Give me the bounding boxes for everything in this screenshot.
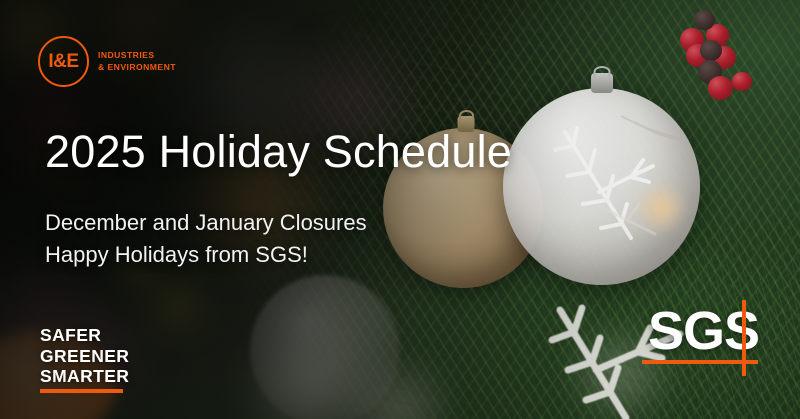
sgs-logo-horizontal-bar	[642, 360, 758, 364]
sgs-logo: SGS	[648, 308, 760, 374]
banner-content: I&E INDUSTRIES & ENVIRONMENT 2025 Holida…	[0, 0, 800, 419]
subtitle-line-2: Happy Holidays from SGS!	[45, 239, 367, 271]
tagline-line-2: GREENER	[40, 346, 129, 367]
page-title: 2025 Holiday Schedule	[45, 129, 512, 174]
sgs-logo-vertical-bar	[742, 300, 746, 376]
sgs-tagline: SAFER GREENER SMARTER	[40, 325, 129, 393]
ie-brand-logo: I&E INDUSTRIES & ENVIRONMENT	[38, 36, 176, 87]
ie-logo-wordmark: INDUSTRIES & ENVIRONMENT	[98, 51, 176, 72]
tagline-line-3: SMARTER	[40, 366, 129, 387]
ie-circle-mark-icon: I&E	[38, 36, 89, 87]
tagline-underline	[40, 389, 123, 393]
ie-logo-line2: & ENVIRONMENT	[98, 63, 176, 73]
ie-mark-text: I&E	[48, 52, 78, 71]
tagline-line-1: SAFER	[40, 325, 129, 346]
holiday-banner: I&E INDUSTRIES & ENVIRONMENT 2025 Holida…	[0, 0, 800, 419]
ie-logo-line1: INDUSTRIES	[98, 51, 176, 61]
subtitle-block: December and January Closures Happy Holi…	[45, 207, 367, 271]
subtitle-line-1: December and January Closures	[45, 207, 367, 239]
